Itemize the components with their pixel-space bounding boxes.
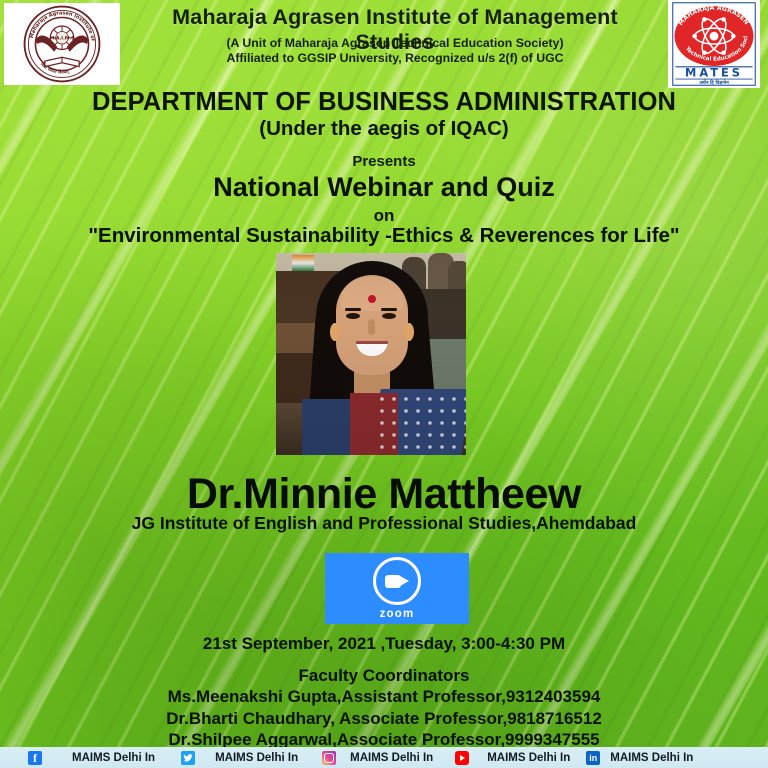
social-link-linkedin[interactable]: in MAIMS Delhi In: [586, 751, 693, 765]
instagram-icon: [322, 751, 336, 765]
coordinator-item: Ms.Meenakshi Gupta,Assistant Professor,9…: [0, 686, 768, 708]
social-link-facebook[interactable]: f MAIMS Delhi In: [28, 751, 155, 765]
twitter-handle: MAIMS Delhi In: [215, 752, 298, 764]
institute-affiliation: (A Unit of Maharaja Agrasen Technical Ed…: [130, 36, 660, 66]
photo-vignette: [276, 253, 466, 455]
on-label: on: [0, 206, 768, 226]
svg-text:M.A.I.M.S: M.A.I.M.S: [49, 36, 75, 42]
video-camera-icon: [373, 557, 421, 605]
event-datetime: 21st September, 2021 ,Tuesday, 3:00-4:30…: [0, 634, 768, 654]
maims-logo-container: Maharaja Agrasen Institute of Management…: [4, 3, 120, 85]
aegis-line: (Under the aegis of IQAC): [0, 117, 768, 141]
mates-logo-container: MAHARAJA AGRASEN Technical Education Soc…: [668, 0, 760, 88]
svg-text:MATES: MATES: [685, 65, 743, 79]
speaker-affiliation: JG Institute of English and Professional…: [0, 513, 768, 534]
youtube-icon: [455, 751, 469, 765]
camera-body-shape: [385, 575, 401, 588]
department-title: DEPARTMENT OF BUSINESS ADMINISTRATION: [0, 88, 768, 117]
youtube-handle: MAIMS Delhi In: [487, 752, 570, 764]
zoom-platform-badge: zoom: [325, 553, 469, 624]
social-link-twitter[interactable]: MAIMS Delhi In: [181, 751, 298, 765]
maims-seal-icon: Maharaja Agrasen Institute of Management…: [23, 5, 101, 83]
linkedin-handle: MAIMS Delhi In: [610, 752, 693, 764]
coordinators-list: Ms.Meenakshi Gupta,Assistant Professor,9…: [0, 686, 768, 751]
speaker-photo: [276, 253, 466, 455]
event-topic: "Environmental Sustainability -Ethics & …: [0, 224, 768, 248]
event-title: National Webinar and Quiz: [0, 172, 768, 203]
facebook-icon: f: [28, 751, 42, 765]
coordinators-heading: Faculty Coordinators: [0, 666, 768, 686]
linkedin-icon: in: [586, 751, 600, 765]
unit-line-2: Affiliated to GGSIP University, Recogniz…: [130, 51, 660, 66]
unit-line-1: (A Unit of Maharaja Agrasen Technical Ed…: [130, 36, 660, 51]
mates-atom-icon: MAHARAJA AGRASEN Technical Education Soc…: [670, 1, 758, 87]
camera-lens-shape: [400, 576, 409, 586]
webinar-poster: Maharaja Agrasen Institute of Management…: [0, 0, 768, 768]
social-link-instagram[interactable]: MAIMS Delhi In: [322, 751, 433, 765]
coordinator-item: Dr.Bharti Chaudhary, Associate Professor…: [0, 708, 768, 730]
social-link-youtube[interactable]: MAIMS Delhi In: [455, 751, 570, 765]
presents-label: Presents: [0, 153, 768, 170]
zoom-wordmark: zoom: [380, 608, 415, 620]
speaker-name: Dr.Minnie Mattheew: [0, 470, 768, 519]
twitter-icon: [181, 751, 195, 765]
instagram-handle: MAIMS Delhi In: [350, 752, 433, 764]
facebook-handle: MAIMS Delhi In: [72, 752, 155, 764]
social-media-footer: f MAIMS Delhi In MAIMS Delhi In MAIMS De…: [0, 747, 768, 768]
